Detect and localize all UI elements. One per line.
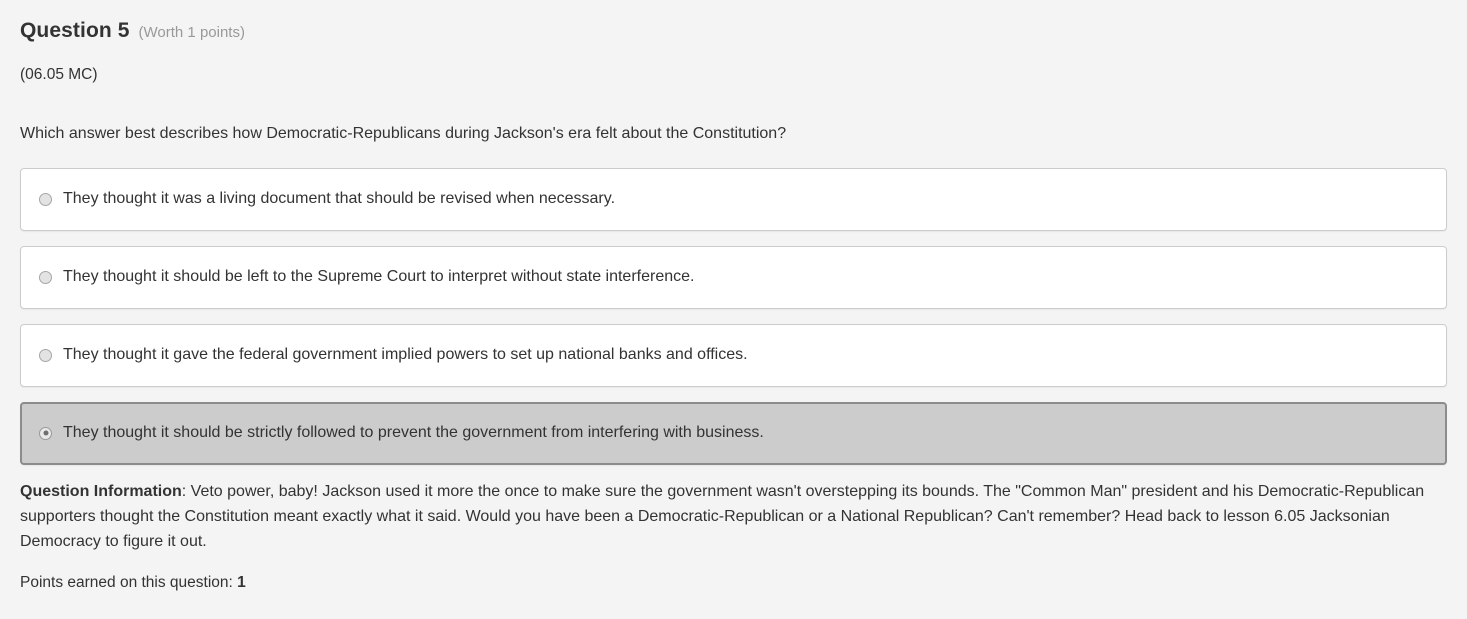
radio-button-icon-3[interactable] — [39, 349, 52, 362]
points-earned: Points earned on this question: 1 — [20, 573, 1447, 593]
question-information: Question Information: Veto power, baby! … — [20, 480, 1447, 554]
answer-option-label-1: They thought it was a living document th… — [63, 189, 615, 210]
answer-options-list: They thought it was a living document th… — [20, 168, 1447, 465]
radio-button-icon-1[interactable] — [39, 193, 52, 206]
answer-option-3[interactable]: They thought it gave the federal governm… — [20, 324, 1447, 387]
answer-option-1[interactable]: They thought it was a living document th… — [20, 168, 1447, 231]
points-earned-value: 1 — [237, 574, 246, 591]
answer-option-label-3: They thought it gave the federal governm… — [63, 345, 748, 366]
answer-option-2[interactable]: They thought it should be left to the Su… — [20, 246, 1447, 309]
question-header: Question 5 (Worth 1 points) — [20, 18, 1447, 43]
answer-option-label-4: They thought it should be strictly follo… — [63, 423, 764, 444]
radio-button-icon-4[interactable] — [39, 427, 52, 440]
answer-option-label-2: They thought it should be left to the Su… — [63, 267, 694, 288]
radio-button-icon-2[interactable] — [39, 271, 52, 284]
question-information-separator: : — [182, 483, 191, 500]
question-information-body: Veto power, baby! Jackson used it more t… — [20, 483, 1424, 550]
page-title: Question 5 — [20, 18, 130, 43]
question-worth: (Worth 1 points) — [139, 24, 245, 42]
points-earned-label: Points earned on this question: — [20, 574, 237, 591]
answer-option-4[interactable]: They thought it should be strictly follo… — [20, 402, 1447, 465]
question-page: Question 5 (Worth 1 points) (06.05 MC) W… — [0, 0, 1467, 593]
question-prompt: Which answer best describes how Democrat… — [20, 123, 1447, 145]
question-information-heading: Question Information — [20, 483, 182, 500]
question-code: (06.05 MC) — [20, 65, 1447, 85]
